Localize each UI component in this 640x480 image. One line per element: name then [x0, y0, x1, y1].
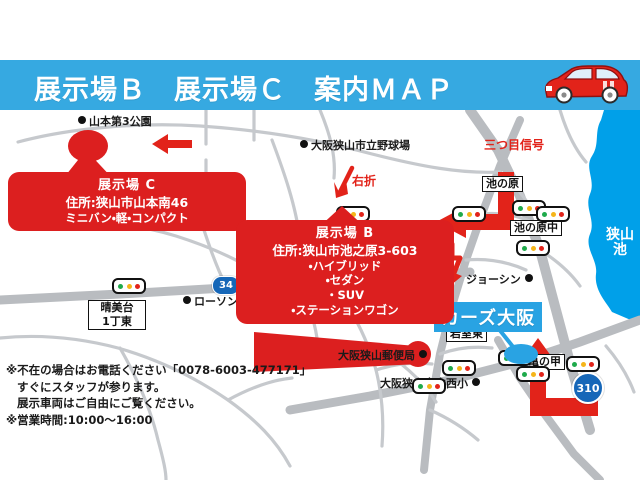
sayama-pond-shape — [588, 110, 640, 324]
showroom-c-address: 住所:狭山市山本南46 — [18, 195, 236, 211]
note-turn-right: 右折 — [352, 172, 376, 189]
intersection-ikenohara-naka: 池の原中 — [510, 220, 562, 236]
footer-line-3: 展示車両はご自由にご覧ください。 — [6, 395, 306, 412]
intersection-harumidai-line1: 晴美台 — [101, 301, 134, 314]
showroom-c-item-0: ミニバン・軽・コンパクト — [18, 211, 236, 226]
traffic-signal-icon — [536, 206, 570, 222]
traffic-signal-icon — [452, 206, 486, 222]
footer-line-4: ※営業時間:10:00〜16:00 — [6, 412, 306, 429]
showroom-b-item-3: ・ステーションワゴン — [246, 303, 444, 318]
showroom-b-address: 住所:狭山市池之原3-603 — [246, 243, 444, 259]
traffic-signal-icon — [112, 278, 146, 294]
label-baseball-stadium: 大阪狭山市立野球場 — [300, 140, 410, 153]
traffic-signal-icon — [516, 366, 550, 382]
showroom-c-title: 展示場 C — [18, 178, 236, 195]
traffic-signal-icon — [412, 378, 446, 394]
page-title: 展示場Ｂ 展示場Ｃ 案内ＭＡＰ — [34, 68, 454, 107]
traffic-signal-icon — [566, 356, 600, 372]
traffic-signal-icon — [442, 360, 476, 376]
note-third-signal: 三つ目信号 — [484, 136, 544, 153]
label-yamamoto-park: 山本第3公園 — [78, 116, 152, 129]
showroom-b-item-2: ・SUV — [246, 288, 444, 303]
footer-line-2: すぐにスタッフが参ります。 — [6, 379, 306, 396]
red-car-icon — [536, 60, 632, 110]
intersection-ikenohara: 池の原 — [482, 176, 523, 192]
traffic-signal-icon — [516, 240, 550, 256]
intersection-harumidai: 晴美台 1丁東 — [88, 300, 146, 330]
intersection-harumidai-line2: 1丁東 — [102, 315, 132, 328]
route-310-shield: 310 — [572, 372, 604, 404]
showroom-b-item-1: ・セダン — [246, 273, 444, 288]
label-joshin: ジョーシン — [466, 274, 533, 287]
showroom-b-title: 展示場 B — [246, 226, 444, 243]
showroom-b-item-0: ・ハイブリッド — [246, 259, 444, 274]
shop-location-dot — [504, 344, 538, 364]
footer-notes: ※不在の場合はお電話ください「0078-6003-477171」 すぐにスタッフ… — [6, 362, 306, 429]
showroom-c-callout: 展示場 C 住所:狭山市山本南46 ミニバン・軽・コンパクト — [8, 172, 246, 231]
label-lawson: ローソン — [183, 296, 238, 309]
map-flyer: 展示場Ｂ 展示場Ｃ 案内ＭＡＰ — [0, 0, 640, 480]
footer-line-1: ※不在の場合はお電話ください「0078-6003-477171」 — [6, 362, 306, 379]
showroom-b-callout: 展示場 B 住所:狭山市池之原3-603 ・ハイブリッド ・セダン ・SUV ・… — [236, 220, 454, 324]
sayama-pond-label: 狭山池 — [606, 228, 634, 257]
label-post-office: 大阪狭山郵便局 — [338, 350, 427, 363]
